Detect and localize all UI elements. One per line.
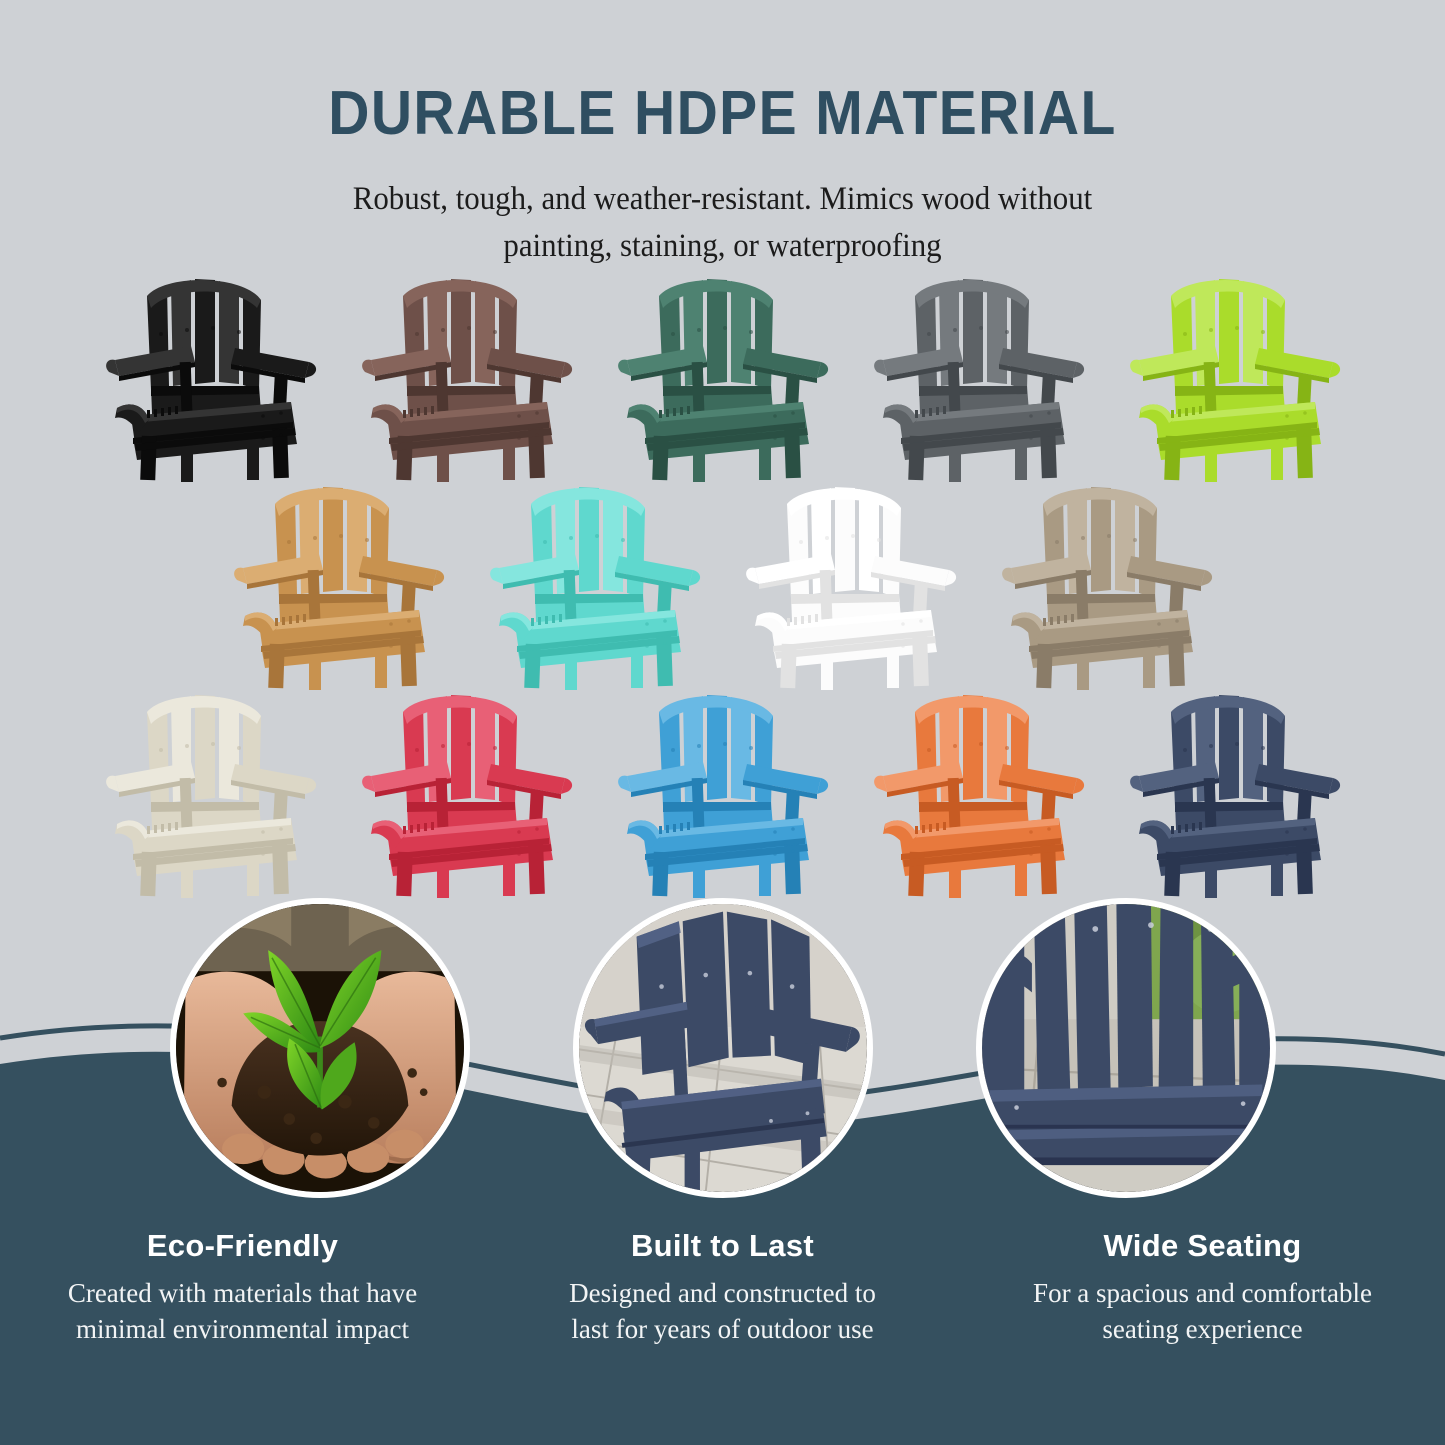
subtitle-line-1: Robust, tough, and weather-resistant. Mi… xyxy=(36,176,1409,223)
chair-swatch-black[interactable] xyxy=(95,268,327,482)
chair-swatch-dark-green[interactable] xyxy=(607,268,839,482)
page-title: DURABLE HDPE MATERIAL xyxy=(58,78,1387,149)
chair-illustration xyxy=(607,684,839,898)
chair-illustration xyxy=(223,476,455,690)
infographic-page: DURABLE HDPE MATERIAL Robust, tough, and… xyxy=(0,0,1445,1445)
chair-color-grid xyxy=(0,268,1445,898)
chair-illustration xyxy=(863,268,1095,482)
chair-swatch-white[interactable] xyxy=(735,476,967,690)
chair-illustration xyxy=(479,476,711,690)
chair-swatch-teak[interactable] xyxy=(223,476,455,690)
feature-body: Designed and constructed to last for yea… xyxy=(493,1276,953,1347)
feature-caption-wide-seating: Wide Seating For a spacious and comforta… xyxy=(973,1228,1433,1408)
chair-illustration xyxy=(351,684,583,898)
feature-body-line-2: minimal environmental impact xyxy=(13,1312,473,1348)
chair-swatch-turquoise[interactable] xyxy=(479,476,711,690)
chair-swatch-red[interactable] xyxy=(351,684,583,898)
chair-swatch-brown[interactable] xyxy=(351,268,583,482)
chair-illustration xyxy=(735,476,967,690)
feature-image-wide-seating xyxy=(976,898,1276,1198)
chair-row-3 xyxy=(0,684,1445,898)
feature-heading: Built to Last xyxy=(493,1228,953,1264)
chair-illustration xyxy=(863,684,1095,898)
chair-swatch-lime-green[interactable] xyxy=(1119,268,1351,482)
feature-caption-eco-friendly: Eco-Friendly Created with materials that… xyxy=(13,1228,473,1408)
chair-illustration xyxy=(1119,684,1351,898)
chair-illustration xyxy=(1119,268,1351,482)
chair-illustration xyxy=(607,268,839,482)
chair-swatch-blue[interactable] xyxy=(607,684,839,898)
chair-illustration xyxy=(95,684,327,898)
feature-body-line-1: For a spacious and comfortable xyxy=(973,1276,1433,1312)
feature-circles xyxy=(0,898,1445,1228)
feature-heading: Wide Seating xyxy=(973,1228,1433,1264)
chair-swatch-orange[interactable] xyxy=(863,684,1095,898)
chair-row-2 xyxy=(0,476,1445,690)
feature-body: Created with materials that have minimal… xyxy=(13,1276,473,1347)
feature-image-built-to-last xyxy=(573,898,873,1198)
feature-body-line-1: Created with materials that have xyxy=(13,1276,473,1312)
chair-swatch-gray[interactable] xyxy=(863,268,1095,482)
feature-body-line-2: last for years of outdoor use xyxy=(493,1312,953,1348)
feature-body-line-1: Designed and constructed to xyxy=(493,1276,953,1312)
feature-heading: Eco-Friendly xyxy=(13,1228,473,1264)
chair-row-1 xyxy=(0,268,1445,482)
feature-captions: Eco-Friendly Created with materials that… xyxy=(0,1228,1445,1408)
chair-illustration xyxy=(95,268,327,482)
feature-body: For a spacious and comfortable seating e… xyxy=(973,1276,1433,1347)
chair-swatch-navy-blue[interactable] xyxy=(1119,684,1351,898)
feature-image-eco-friendly xyxy=(170,898,470,1198)
page-subtitle: Robust, tough, and weather-resistant. Mi… xyxy=(36,176,1409,270)
feature-caption-built-to-last: Built to Last Designed and constructed t… xyxy=(493,1228,953,1408)
subtitle-line-2: painting, staining, or waterproofing xyxy=(36,223,1409,270)
chair-swatch-beige[interactable] xyxy=(95,684,327,898)
chair-illustration xyxy=(351,268,583,482)
chair-swatch-weathered-wood[interactable] xyxy=(991,476,1223,690)
feature-body-line-2: seating experience xyxy=(973,1312,1433,1348)
chair-illustration xyxy=(991,476,1223,690)
